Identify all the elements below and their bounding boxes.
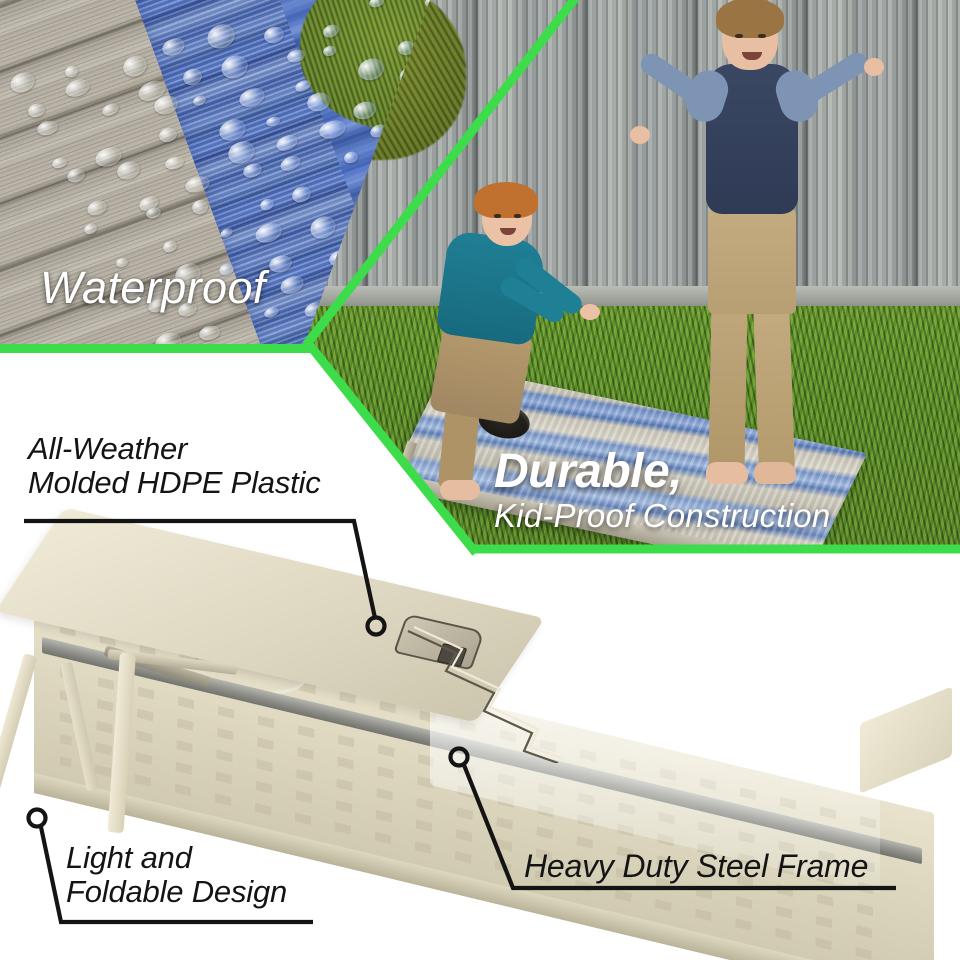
boy-left-leg [709,300,748,473]
boy-eye-right [758,34,766,38]
toddler-hair [474,182,538,218]
toddler-eye-right [514,214,521,218]
callout-hdpe-line-1: All-Weather [28,432,321,466]
callout-steel-frame: Heavy Duty Steel Frame [524,848,868,885]
boy-right-foot [754,462,796,484]
boy-right-hand [864,58,884,76]
green-divider-bottom-left [0,344,322,353]
boy-hair [716,0,784,38]
boy-left-foot [706,462,748,484]
callout-foldable: Light and Foldable Design [66,841,287,909]
toddler-hand [580,304,600,320]
durable-label: Durable, [494,444,682,499]
board-far-end [860,686,952,793]
boy-left-hand [630,126,650,144]
callout-hdpe-line-2: Molded HDPE Plastic [28,466,321,500]
kid-proof-label: Kid-Proof Construction [494,497,830,535]
infographic-canvas: Waterproof [0,0,960,960]
waterproof-label: Waterproof [40,262,266,314]
boy-right-leg [753,299,795,472]
callout-foldable-line-1: Light and [66,841,287,875]
standing-boy [636,0,886,520]
boy-eye-left [735,34,743,38]
folding-leg-front [0,653,38,820]
toddler-foot [440,480,480,500]
callout-foldable-line-2: Foldable Design [66,875,287,909]
callout-steel-frame-line-1: Heavy Duty Steel Frame [524,848,868,885]
toddler-eye-left [494,214,501,218]
boy-khaki-pants [708,206,796,314]
callout-hdpe: All-Weather Molded HDPE Plastic [28,432,321,500]
